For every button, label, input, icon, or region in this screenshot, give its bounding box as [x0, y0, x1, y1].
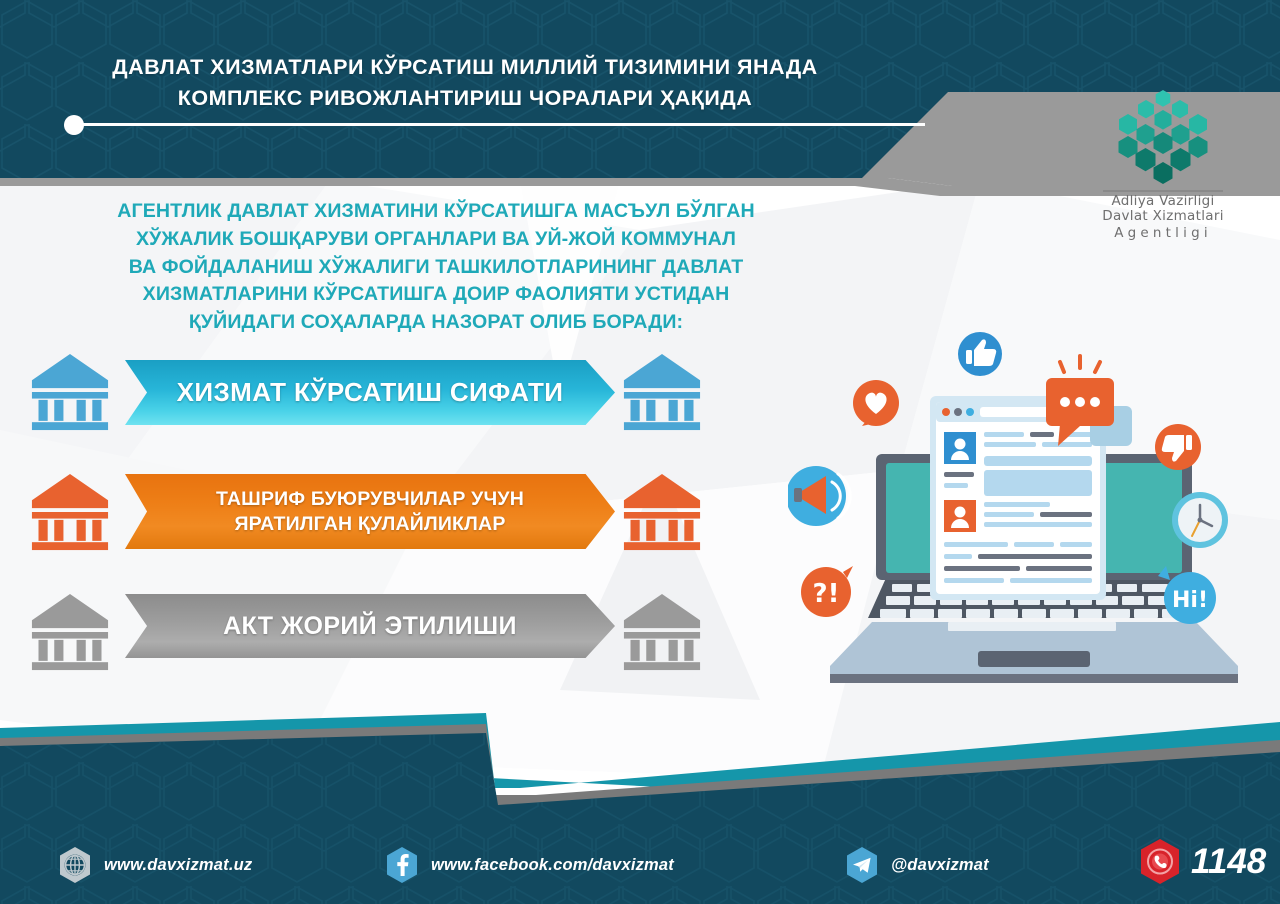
footer-telegram-label: @davxizmat: [891, 856, 989, 875]
megaphone-icon: [788, 466, 850, 526]
question-icon: ?!: [801, 566, 853, 617]
chevron-text: ХИЗМАТ КЎРСАТИШ СИФАТИ: [177, 377, 564, 408]
thumbs-up-icon: [958, 332, 1002, 376]
intro-line-1: АГЕНТЛИК ДАВЛАТ ХИЗМАТИНИ КЎРСАТИШГА МАС…: [36, 198, 836, 226]
chevron-label-act[interactable]: АКТ ЖОРИЙ ЭТИЛИШИ: [125, 594, 615, 658]
footer-facebook[interactable]: www.facebook.com/davxizmat: [385, 846, 674, 884]
list-item-quality: ХИЗМАТ КЎРСАТИШ СИФАТИ: [0, 350, 740, 470]
intro-line-5: ҚУЙИДАГИ СОҲАЛАРДА НАЗОРАТ ОЛИБ БОРАДИ:: [36, 309, 836, 337]
chevron-text: АКТ ЖОРИЙ ЭТИЛИШИ: [223, 612, 517, 641]
clock-icon: [1172, 492, 1228, 548]
bank-icon: [620, 470, 704, 554]
bank-icon: [28, 590, 112, 674]
chevron-label-conveniences[interactable]: ТАШРИФ БУЮРУВЧИЛАР УЧУН ЯРАТИЛГАН ҚУЛАЙЛ…: [125, 474, 615, 549]
intro-line-2: ХЎЖАЛИК БОШҚАРУВИ ОРГАНЛАРИ ВА УЙ-ЖОЙ КО…: [36, 226, 836, 254]
bank-icon: [28, 470, 112, 554]
laptop-feedback-illustration: ?! Hi!: [788, 306, 1280, 710]
intro-line-4: ХИЗМАТЛАРИНИ КЎРСАТИШГА ДОИР ФАОЛИЯТИ УС…: [36, 281, 836, 309]
page-title-line1: ДАВЛАТ ХИЗМАТЛАРИ КЎРСАТИШ МИЛЛИЙ ТИЗИМИ…: [0, 52, 930, 83]
laptop-trackpad: [978, 651, 1090, 667]
intro-line-3: ВА ФОЙДАЛАНИШ ХЎЖАЛИГИ ТАШКИЛОТЛАРИНИНГ …: [36, 254, 836, 282]
footer-hotline-number: 1148: [1191, 842, 1266, 882]
phone-icon: [1139, 838, 1181, 885]
list-item-act: АКТ ЖОРИЙ ЭТИЛИШИ: [0, 590, 740, 700]
svg-text:Hi!: Hi!: [1172, 588, 1208, 613]
thumbs-down-icon: [1155, 424, 1201, 470]
svg-text:?!: ?!: [813, 579, 840, 609]
browser-dot-blue: [966, 408, 974, 416]
footer-website[interactable]: www.davxizmat.uz: [58, 846, 252, 884]
logo-line-3: Agentligi: [1063, 225, 1263, 242]
globe-icon: [58, 846, 92, 884]
hexagon-cluster-icon: [1088, 88, 1238, 186]
intro-paragraph: АГЕНТЛИК ДАВЛАТ ХИЗМАТИНИ КЎРСАТИШГА МАС…: [36, 198, 836, 337]
telegram-icon: [845, 846, 879, 884]
page-title: ДАВЛАТ ХИЗМАТЛАРИ КЎРСАТИШ МИЛЛИЙ ТИЗИМИ…: [0, 52, 930, 114]
footer-facebook-label: www.facebook.com/davxizmat: [431, 856, 674, 875]
title-bullet-dot: [64, 115, 84, 135]
browser-dot-gray: [954, 408, 962, 416]
bank-icon: [620, 590, 704, 674]
footer-hotline[interactable]: 1148: [1139, 838, 1266, 885]
title-underline: [76, 123, 925, 126]
agency-logo: Adliya Vazirligi Davlat Xizmatlari Agent…: [1063, 88, 1263, 238]
bank-icon: [620, 350, 704, 434]
chevron-label-quality[interactable]: ХИЗМАТ КЎРСАТИШ СИФАТИ: [125, 360, 615, 425]
facebook-icon: [385, 846, 419, 884]
logo-divider: [1103, 190, 1223, 192]
logo-line-2: Davlat Xizmatlari: [1063, 209, 1263, 225]
footer-bar: www.davxizmat.uz www.facebook.com/davxiz…: [0, 820, 1280, 904]
footer-telegram[interactable]: @davxizmat: [845, 846, 989, 884]
footer-website-label: www.davxizmat.uz: [104, 856, 252, 875]
page-title-line2: КОМПЛЕКС РИВОЖЛАНТИРИШ ЧОРАЛАРИ ҲАҚИДА: [0, 83, 930, 114]
control-areas-list: ХИЗМАТ КЎРСАТИШ СИФАТИ: [0, 350, 740, 700]
bank-icon: [28, 350, 112, 434]
heart-icon: [853, 380, 899, 426]
chevron-text-line2: ЯРАТИЛГАН ҚУЛАЙЛИКЛАР: [234, 513, 505, 535]
chevron-text: ТАШРИФ БУЮРУВЧИЛАР УЧУН ЯРАТИЛГАН ҚУЛАЙЛ…: [216, 487, 524, 537]
browser-dot-red: [942, 408, 950, 416]
logo-line-1: Adliya Vazirligi: [1063, 194, 1263, 210]
infographic-poster: ДАВЛАТ ХИЗМАТЛАРИ КЎРСАТИШ МИЛЛИЙ ТИЗИМИ…: [0, 0, 1280, 904]
list-item-conveniences: ТАШРИФ БУЮРУВЧИЛАР УЧУН ЯРАТИЛГАН ҚУЛАЙЛ…: [0, 470, 740, 590]
chevron-text-line1: ТАШРИФ БУЮРУВЧИЛАР УЧУН: [216, 488, 524, 510]
